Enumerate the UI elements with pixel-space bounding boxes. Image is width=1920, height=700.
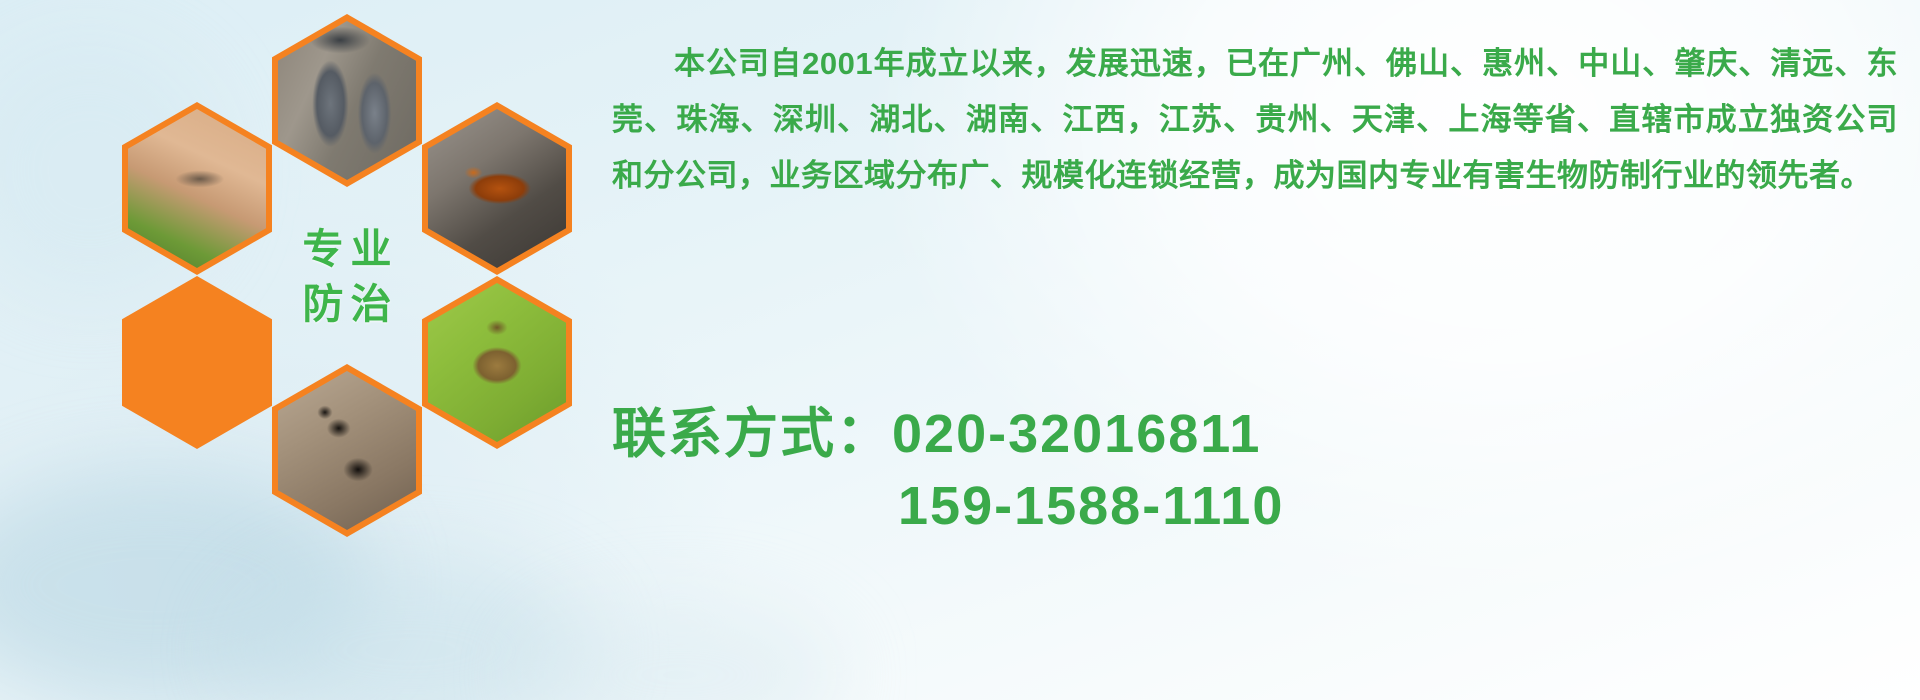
hex-cell-ant (272, 364, 422, 537)
contact-block: 联系方式：020-32016811 159-1588-1110 (612, 398, 1898, 542)
hex-cell-stink-bug (422, 276, 572, 449)
phone-secondary[interactable]: 159-1588-1110 (612, 470, 1898, 542)
promo-banner: 专业 防治 本公司自2001年成立以来，发展迅速，已在广州、佛山、惠州、中山、肇… (0, 0, 1920, 700)
hexagon-photo-cluster: 专业 防治 (86, 14, 586, 559)
hex-cell-rats (272, 14, 422, 187)
ant-photo (278, 371, 416, 530)
stink-bug-photo (428, 283, 566, 442)
copy-column: 本公司自2001年成立以来，发展迅速，已在广州、佛山、惠州、中山、肇庆、清远、东… (612, 36, 1898, 204)
rats-photo (278, 21, 416, 180)
contact-primary-line: 联系方式：020-32016811 (612, 398, 1898, 470)
hex-center-slogan: 专业 防治 (272, 190, 422, 363)
slogan-line-1: 专业 (296, 229, 399, 270)
hex-cell-roach (422, 102, 572, 275)
hex-cell-mosquito (122, 102, 272, 275)
slogan-line-2: 防治 (296, 284, 399, 325)
phone-primary[interactable]: 020-32016811 (892, 404, 1261, 464)
flies-photo (128, 283, 266, 442)
hex-cell-flies (122, 276, 272, 449)
cockroach-photo (428, 109, 566, 268)
contact-label: 联系方式： (612, 404, 892, 464)
background-blob (230, 560, 590, 700)
intro-paragraph: 本公司自2001年成立以来，发展迅速，已在广州、佛山、惠州、中山、肇庆、清远、东… (612, 36, 1898, 204)
mosquito-photo (128, 109, 266, 268)
background-blob (520, 600, 840, 700)
